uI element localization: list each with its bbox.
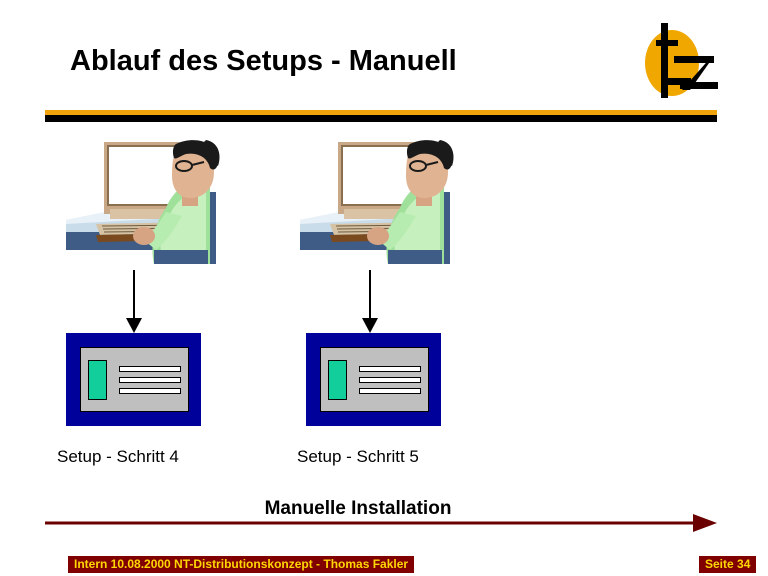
setup-screen-lines xyxy=(359,366,421,394)
setup-screen-highlight xyxy=(328,360,347,400)
step-caption-2: Setup - Schritt 5 xyxy=(297,447,419,467)
person-at-computer-icon xyxy=(292,132,467,267)
setup-screen-line xyxy=(359,388,421,394)
footer-bar: Intern 10.08.2000 NT-Distributionskonzep… xyxy=(68,556,414,573)
header-rule-black xyxy=(45,115,717,122)
slide-canvas: Ablauf des Setups - Manuell xyxy=(0,0,768,576)
setup-screen-icon xyxy=(306,333,441,426)
person-at-computer-icon xyxy=(58,132,233,267)
setup-screen-line xyxy=(359,366,421,372)
step-caption-1: Setup - Schritt 4 xyxy=(57,447,179,467)
setup-screen-panel xyxy=(80,347,189,412)
page-title: Ablauf des Setups - Manuell xyxy=(70,45,457,78)
right-arrow-icon xyxy=(45,512,717,534)
setup-screen-line xyxy=(119,388,181,394)
page-number-badge: Seite 34 xyxy=(699,556,756,573)
down-arrow-icon xyxy=(358,270,382,334)
setup-screen-line xyxy=(119,366,181,372)
setup-screen-lines xyxy=(119,366,181,394)
setup-screen-icon xyxy=(66,333,201,426)
down-arrow-icon xyxy=(122,270,146,334)
setup-screen-panel xyxy=(320,347,429,412)
setup-screen-line xyxy=(359,377,421,383)
setup-screen-line xyxy=(119,377,181,383)
lz-logo xyxy=(628,18,720,108)
setup-screen-highlight xyxy=(88,360,107,400)
